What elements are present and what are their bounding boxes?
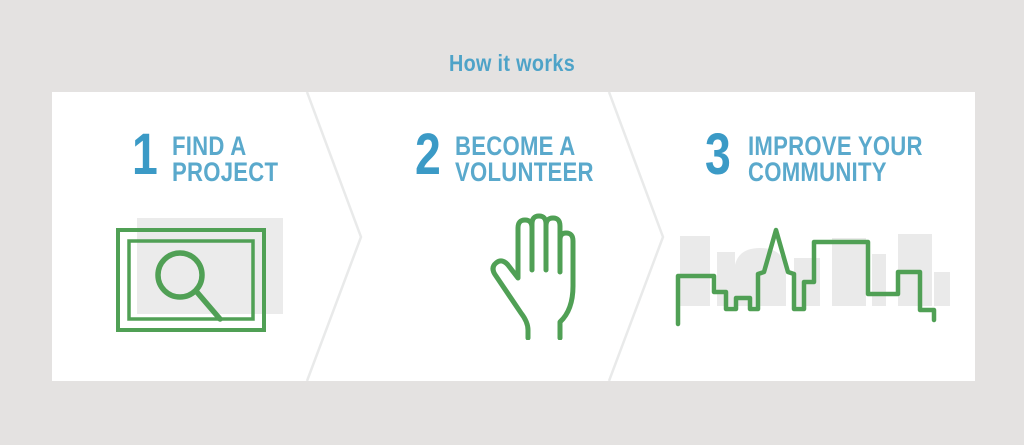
step-label: FIND A PROJECT [172,130,278,185]
step-label-line2: PROJECT [172,159,278,185]
step-number: 1 [132,130,158,180]
step-heading: 2 BECOME A VOLUNTEER [415,130,624,185]
page-title: How it works [72,50,953,77]
step-label: BECOME A VOLUNTEER [455,130,594,185]
step-panel-become-a-volunteer[interactable]: 2 BECOME A VOLUNTEER [360,92,668,381]
raised-hand-icon [488,210,588,345]
step-number: 3 [705,130,731,180]
step-label-line2: VOLUNTEER [455,159,594,185]
step-number: 2 [415,130,441,180]
step-heading: 3 IMPROVE YOUR COMMUNITY [705,130,960,185]
steps-card: 1 FIND A PROJECT [52,92,975,381]
step-panel-improve-your-community[interactable]: 3 IMPROVE YOUR COMMUNITY [667,92,975,381]
search-screen-icon [110,218,290,353]
step-label: IMPROVE YOUR COMMUNITY [748,130,923,185]
city-skyline-icon [672,214,952,339]
step-heading: 1 FIND A PROJECT [132,130,302,185]
steps-panel-list: 1 FIND A PROJECT [52,92,975,381]
how-it-works-infographic: How it works 1 FIND A PROJECT [0,0,1024,445]
step-label-line2: COMMUNITY [748,159,923,185]
step-panel-find-a-project[interactable]: 1 FIND A PROJECT [52,92,360,381]
